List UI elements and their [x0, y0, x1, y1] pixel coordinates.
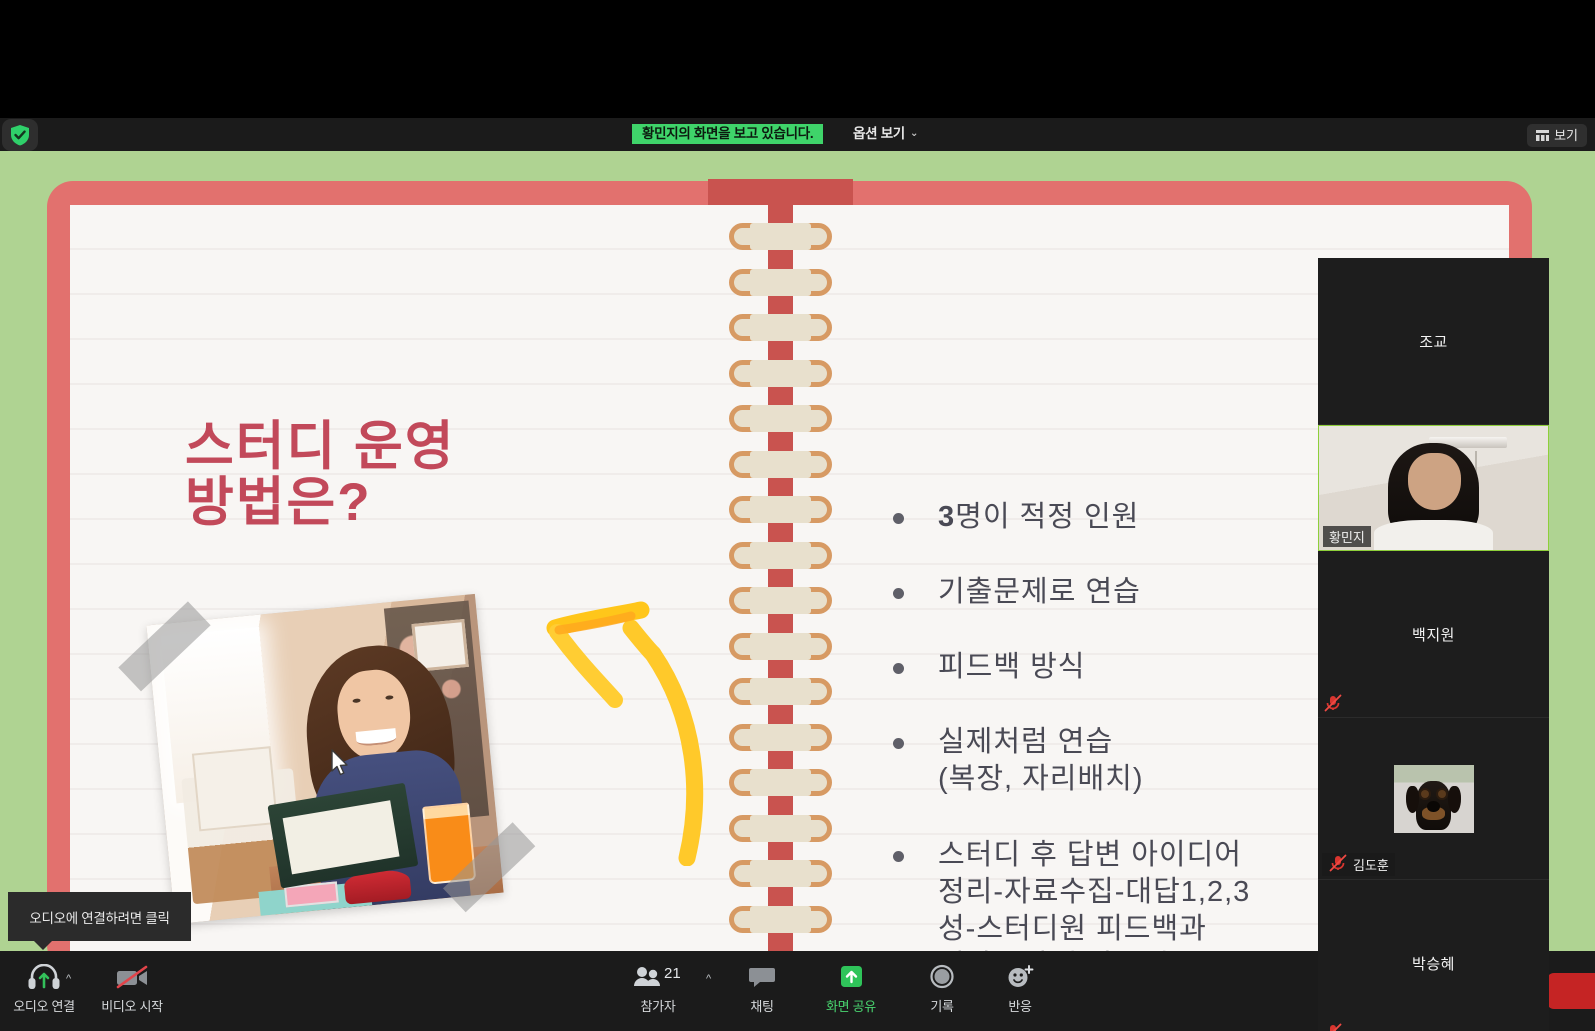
participant-name-badge: 황민지	[1323, 526, 1371, 547]
slide-bullet-item: 기출문제로 연습	[893, 574, 1343, 611]
slide-bullet-list: 3명이 적정 인원기출문제로 연습피드백 방식실제처럼 연습 (복장, 자리배치…	[893, 499, 1343, 951]
mouse-cursor	[330, 749, 350, 782]
notebook-ring	[729, 223, 832, 250]
notebook-ring	[729, 769, 832, 796]
chat-button[interactable]: 채팅	[730, 958, 794, 1024]
slide-bullet-text: 스터디 후 답변 아이디어 정리-자료수집-대답1,2,3 성-스터디원 피드백…	[938, 837, 1250, 951]
join-audio-button[interactable]: 오디오 연결	[12, 958, 76, 1024]
audio-tooltip: 오디오에 연결하려면 클릭	[8, 892, 191, 941]
share-screen-button[interactable]: 화면 공유	[812, 958, 890, 1024]
people-icon: 21	[632, 958, 684, 990]
participants-caret[interactable]: ^	[706, 973, 711, 985]
notebook-ring	[729, 906, 832, 933]
shield-check-icon[interactable]	[2, 119, 38, 151]
share-screen-icon	[836, 958, 866, 990]
slide-bullet-text: 실제처럼 연습 (복장, 자리배치)	[938, 724, 1144, 798]
bullet-dot-icon	[893, 588, 904, 599]
audio-options-caret[interactable]: ^	[66, 973, 71, 985]
notebook-ring	[729, 633, 832, 660]
mic-muted-icon	[1323, 1023, 1343, 1031]
smiley-plus-icon	[1005, 958, 1035, 990]
record-label: 기록	[930, 996, 953, 1015]
chat-label: 채팅	[750, 996, 773, 1015]
slide-bullet-text: 3명이 적정 인원	[938, 499, 1139, 536]
notebook-rings	[729, 223, 832, 951]
notebook-ring	[729, 405, 832, 432]
notebook-ring	[729, 269, 832, 296]
notebook-ring	[729, 860, 832, 887]
photo-image	[146, 594, 503, 924]
end-meeting-button[interactable]	[1547, 973, 1595, 1009]
slide-title: 스터디 운영 방법은?	[185, 419, 456, 530]
participant-avatar	[1394, 765, 1474, 833]
chevron-down-icon: ⌄	[910, 123, 918, 145]
slide-bullet-item: 3명이 적정 인원	[893, 499, 1343, 536]
notebook-ring	[729, 360, 832, 387]
bullet-dot-icon	[893, 738, 904, 749]
slide-bullet-item: 실제처럼 연습 (복장, 자리배치)	[893, 724, 1343, 798]
notebook-ring	[729, 587, 832, 614]
participant-tile[interactable]: 백지원	[1318, 551, 1549, 718]
record-circle-icon	[928, 958, 956, 990]
notebook-ring	[729, 451, 832, 478]
slide-bullet-item: 피드백 방식	[893, 649, 1343, 686]
notebook-ring	[729, 724, 832, 751]
start-video-button[interactable]: 비디오 시작	[100, 958, 164, 1024]
participant-tile[interactable]: 박승혜	[1318, 880, 1549, 1031]
view-options-dropdown[interactable]: 옵션 보기 ⌄	[845, 123, 926, 145]
sharing-notice-pill: 황민지의 화면을 보고 있습니다.	[632, 124, 823, 144]
slide-bullet-text: 기출문제로 연습	[938, 574, 1141, 611]
view-button-label: 보기	[1554, 124, 1578, 147]
camera-off-icon	[114, 958, 150, 990]
view-layout-button[interactable]: 보기	[1527, 124, 1587, 147]
notebook-ring	[729, 678, 832, 705]
view-options-label: 옵션 보기	[853, 123, 905, 145]
participant-tile[interactable]: 조교	[1318, 258, 1549, 425]
reactions-button[interactable]: 반응	[988, 958, 1052, 1024]
letterbox-top	[0, 0, 1595, 118]
record-button[interactable]: 기록	[910, 958, 974, 1024]
mic-muted-icon	[1328, 854, 1348, 875]
slide-photo	[146, 594, 503, 924]
reactions-label: 반응	[1008, 996, 1031, 1015]
participant-filmstrip[interactable]: 조교황민지백지원김도훈박승혜전미연	[1318, 258, 1549, 1031]
share-screen-label: 화면 공유	[826, 996, 876, 1015]
slide-bullet-text: 피드백 방식	[938, 649, 1085, 686]
grid-icon	[1536, 130, 1549, 141]
bullet-dot-icon	[893, 663, 904, 674]
headset-join-audio-icon	[27, 958, 61, 990]
participant-name-badge: 김도훈	[1322, 853, 1395, 876]
notebook-ring	[729, 542, 832, 569]
notebook-ring	[729, 815, 832, 842]
notebook-ring	[729, 496, 832, 523]
join-audio-label: 오디오 연결	[13, 996, 75, 1015]
zoom-meeting-window: 황민지의 화면을 보고 있습니다. 옵션 보기 ⌄ 보기 스터디 운영 방법은?	[0, 0, 1595, 1031]
participant-tile[interactable]: 김도훈	[1318, 718, 1549, 880]
notebook-ring	[729, 314, 832, 341]
start-video-label: 비디오 시작	[101, 996, 163, 1015]
bullet-dot-icon	[893, 513, 904, 524]
hand-drawn-arrow-icon	[535, 576, 715, 866]
mic-muted-icon	[1323, 694, 1343, 712]
participants-button[interactable]: 21 참가자	[626, 958, 690, 1024]
participant-name: 백지원	[1412, 624, 1455, 645]
chat-bubble-icon	[748, 958, 776, 990]
participant-name: 조교	[1419, 331, 1448, 352]
slide-bullet-item: 스터디 후 답변 아이디어 정리-자료수집-대답1,2,3 성-스터디원 피드백…	[893, 837, 1343, 951]
bullet-dot-icon	[893, 851, 904, 862]
participant-name: 박승혜	[1412, 953, 1455, 974]
participant-tile[interactable]: 황민지	[1318, 425, 1549, 551]
participants-label: 참가자	[641, 996, 676, 1015]
svg-text:21: 21	[664, 965, 681, 982]
